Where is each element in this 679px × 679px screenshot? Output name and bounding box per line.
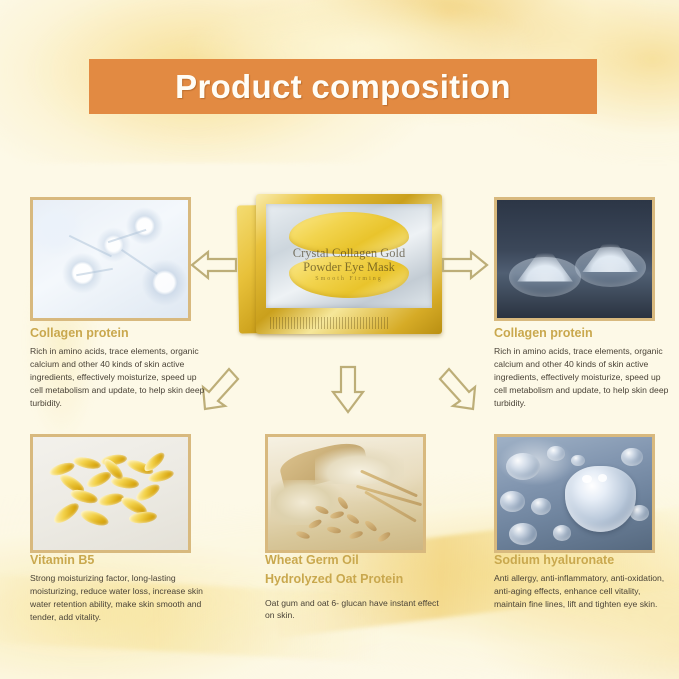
card-collagen-left: Collagen protein Rich in amino acids, tr… [30, 326, 210, 410]
card-sodium-hyaluronate: Sodium hyaluronate Anti allergy, anti-in… [494, 553, 674, 611]
page-title: Product composition [175, 68, 511, 106]
wheat-grain-photo [265, 434, 426, 553]
card-title: Sodium hyaluronate [494, 553, 674, 568]
collagen-powder-photo [494, 197, 655, 321]
arrow-down-right-to-sodium [437, 365, 479, 413]
product-label-line3: Smooth Firming [266, 276, 432, 283]
card-title-line1: Wheat Germ Oil [265, 553, 445, 568]
card-title: Collagen protein [30, 326, 210, 341]
card-title-line2: Hydrolyzed Oat Protein [265, 572, 445, 587]
card-body: Strong moisturizing factor, long-lasting… [30, 572, 205, 624]
card-body: Rich in amino acids, trace elements, org… [30, 345, 210, 409]
vitamin-capsules-photo [30, 434, 191, 553]
card-body: Rich in amino acids, trace elements, org… [494, 345, 674, 409]
card-title: Vitamin B5 [30, 553, 205, 568]
arrow-down-to-wheat [331, 364, 365, 414]
card-collagen-right: Collagen protein Rich in amino acids, tr… [494, 326, 674, 410]
card-title: Collagen protein [494, 326, 674, 341]
card-body: Anti allergy, anti-inflammatory, anti-ox… [494, 572, 674, 611]
arrow-left-to-collagen [190, 248, 238, 282]
card-body: Oat gum and oat 6- glucan have instant e… [265, 597, 445, 623]
collagen-molecule-photo [30, 197, 191, 321]
water-droplet-photo [494, 434, 655, 553]
title-banner: Product composition [89, 59, 597, 114]
product-label-line1: Crystal Collagen Gold [266, 246, 432, 260]
card-vitamin-b5: Vitamin B5 Strong moisturizing factor, l… [30, 553, 205, 624]
barcode [270, 317, 390, 329]
product-label-line2: Powder Eye Mask [266, 260, 432, 274]
product-package-image: Crystal Collagen Gold Powder Eye Mask Sm… [236, 190, 442, 345]
arrow-right-to-collagen [441, 248, 489, 282]
product-label: Crystal Collagen Gold Powder Eye Mask Sm… [266, 246, 432, 283]
card-wheat-germ-oil: Wheat Germ Oil Hydrolyzed Oat Protein Oa… [265, 553, 445, 622]
infographic-page: Product composition Cr [0, 0, 679, 679]
